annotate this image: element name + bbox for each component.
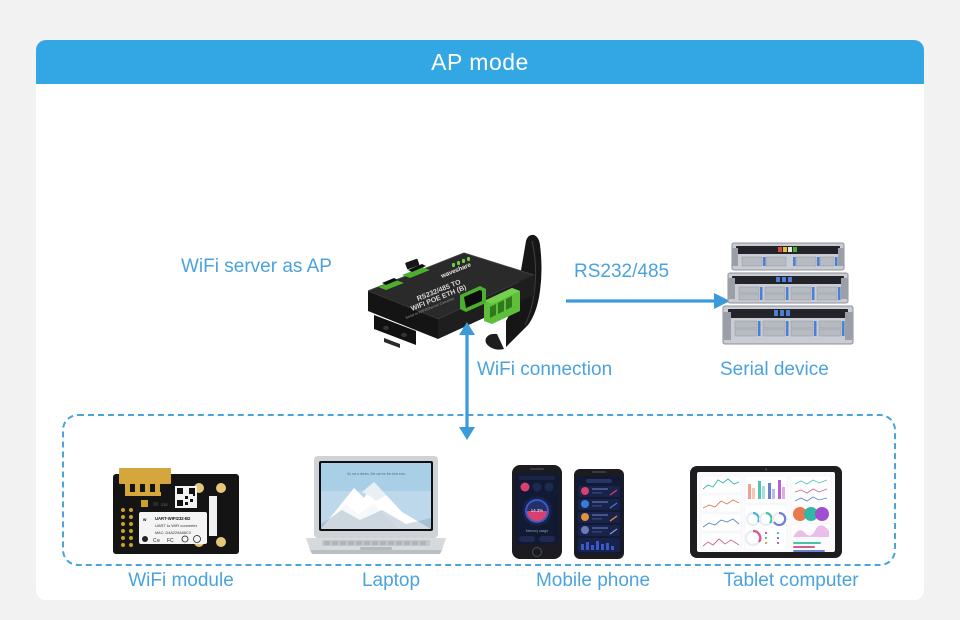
wifi-connection-arrow-icon [454, 322, 480, 440]
qr-code-icon [175, 486, 197, 508]
dashboard-donut-charts [745, 505, 787, 550]
wifi-module-board: w UART-WIFI232-B2 UART to WiFi converter… [111, 466, 241, 558]
module-part: UART-WIFI232-B2 [155, 516, 191, 521]
laptop-device: It's not a dream, We can be the best eve… [302, 452, 450, 562]
module-brand: w [142, 517, 147, 522]
gauge-value: 14.3% [531, 508, 544, 513]
label-mobile-phone: Mobile phone [488, 570, 698, 592]
label-wifi-module: WiFi module [81, 570, 281, 592]
phone-front: 14.3% Memory usage [512, 465, 562, 559]
gauge-caption: Memory usage [526, 529, 549, 533]
module-desc: UART to WiFi converter [155, 523, 198, 528]
module-mac: MAC: D4A229A68C0 [155, 531, 191, 535]
label-laptop: Laptop [291, 570, 491, 592]
svg-text:232: 232 [161, 502, 168, 507]
serial-device-rack [718, 239, 858, 349]
label-serial-device: Serial device [720, 359, 829, 381]
label-wifi-server-as-ap: WiFi server as AP [181, 256, 332, 278]
label-tablet-computer: Tablet computer [676, 570, 906, 592]
ap-mode-card: AP mode WiFi server as AP [36, 40, 924, 600]
mobile-phone-devices: 14.3% Memory usage [506, 459, 636, 564]
rs232-wifi-converter: waveshare RS232/485 TO WIFI POE ETH (B) … [356, 229, 546, 359]
card-header: AP mode [36, 40, 924, 84]
page-title: AP mode [431, 49, 529, 76]
diagram-stage: WiFi server as AP [36, 84, 924, 600]
label-rs232-485: RS232/485 [574, 261, 669, 283]
svg-text:It's not a dream, We can be t: It's not a dream, We can be the best eve… [347, 472, 406, 476]
phone-list [574, 469, 624, 559]
label-wifi-connection: WiFi connection [477, 359, 612, 381]
dashboard-bar-charts [745, 476, 787, 503]
svg-text:C∊: C∊ [153, 538, 161, 544]
rs232-arrow-icon [566, 290, 730, 312]
svg-text:FC: FC [167, 538, 174, 544]
tablet-device [688, 462, 844, 562]
